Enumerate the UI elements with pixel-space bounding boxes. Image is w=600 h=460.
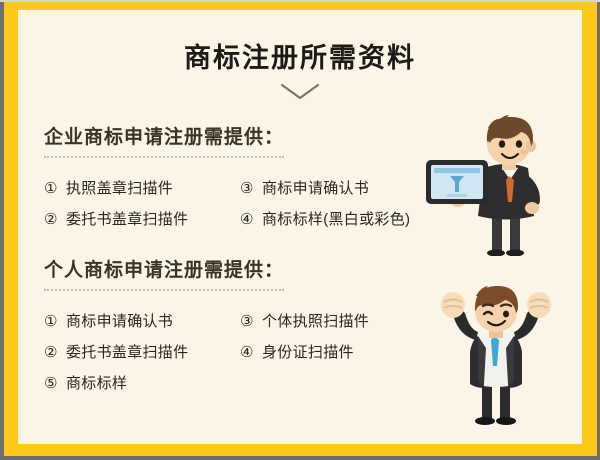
list-item: ③ 个体执照扫描件 <box>240 310 369 331</box>
list-item-number: ① <box>44 312 66 330</box>
list-item-number: ④ <box>240 210 262 228</box>
list-item-number: ⑤ <box>44 374 66 392</box>
list-item-label: 个体执照扫描件 <box>262 310 369 331</box>
list-item: ② 委托书盖章扫描件 <box>44 208 240 229</box>
list-item-number: ③ <box>240 179 262 197</box>
list-item: ④ 身份证扫描件 <box>240 341 369 362</box>
frame-edge-left <box>0 0 4 460</box>
list-item: ③ 商标申请确认书 <box>240 177 410 198</box>
list-item-label: 商标申请确认书 <box>66 310 173 331</box>
list-item: ① 执照盖章扫描件 <box>44 177 240 198</box>
requirement-list: ① 商标申请确认书 ③ 个体执照扫描件 ② 委托书盖章扫描件 ④ 身份证扫描件 … <box>44 305 369 398</box>
section-enterprise: 企业商标申请注册需提供： ① 执照盖章扫描件 ③ 商标申请确认书 ② 委托书盖章… <box>44 122 410 234</box>
list-item-number: ④ <box>240 343 262 361</box>
frame-edge-bottom <box>0 456 600 460</box>
cheering-businessman-illustration <box>426 278 566 433</box>
list-item-number: ② <box>44 343 66 361</box>
requirement-list: ① 执照盖章扫描件 ③ 商标申请确认书 ② 委托书盖章扫描件 ④ 商标标样(黑白… <box>44 172 410 234</box>
list-item-label: 身份证扫描件 <box>262 341 354 362</box>
list-item: ② 委托书盖章扫描件 <box>44 341 240 362</box>
list-item: ① 商标申请确认书 <box>44 310 240 331</box>
list-item-label: 商标标样(黑白或彩色) <box>262 208 410 229</box>
section-heading: 企业商标申请注册需提供： <box>44 122 284 158</box>
list-item-label: 商标标样 <box>66 372 127 393</box>
infographic-poster: 商标注册所需资料 企业商标申请注册需提供： ① 执照盖章扫描件 ③ 商标申请确认… <box>0 0 600 460</box>
list-item-number: ② <box>44 210 66 228</box>
list-item-number: ① <box>44 179 66 197</box>
section-heading: 个人商标申请注册需提供： <box>44 255 284 291</box>
list-item: ⑤ 商标标样 <box>44 372 240 393</box>
chevron-down-icon <box>18 82 582 107</box>
businessman-with-tablet-illustration <box>414 106 564 261</box>
list-item-label: 商标申请确认书 <box>262 177 369 198</box>
list-item-label: 委托书盖章扫描件 <box>66 208 188 229</box>
frame-edge-top <box>0 0 600 2</box>
section-individual: 个人商标申请注册需提供： ① 商标申请确认书 ③ 个体执照扫描件 ② 委托书盖章… <box>44 255 369 398</box>
list-item: ④ 商标标样(黑白或彩色) <box>240 208 410 229</box>
list-item-label: 执照盖章扫描件 <box>66 177 173 198</box>
content-card: 商标注册所需资料 企业商标申请注册需提供： ① 执照盖章扫描件 ③ 商标申请确认… <box>18 10 582 444</box>
list-item-label: 委托书盖章扫描件 <box>66 341 188 362</box>
page-title: 商标注册所需资料 <box>18 36 582 75</box>
list-item-number: ③ <box>240 312 262 330</box>
